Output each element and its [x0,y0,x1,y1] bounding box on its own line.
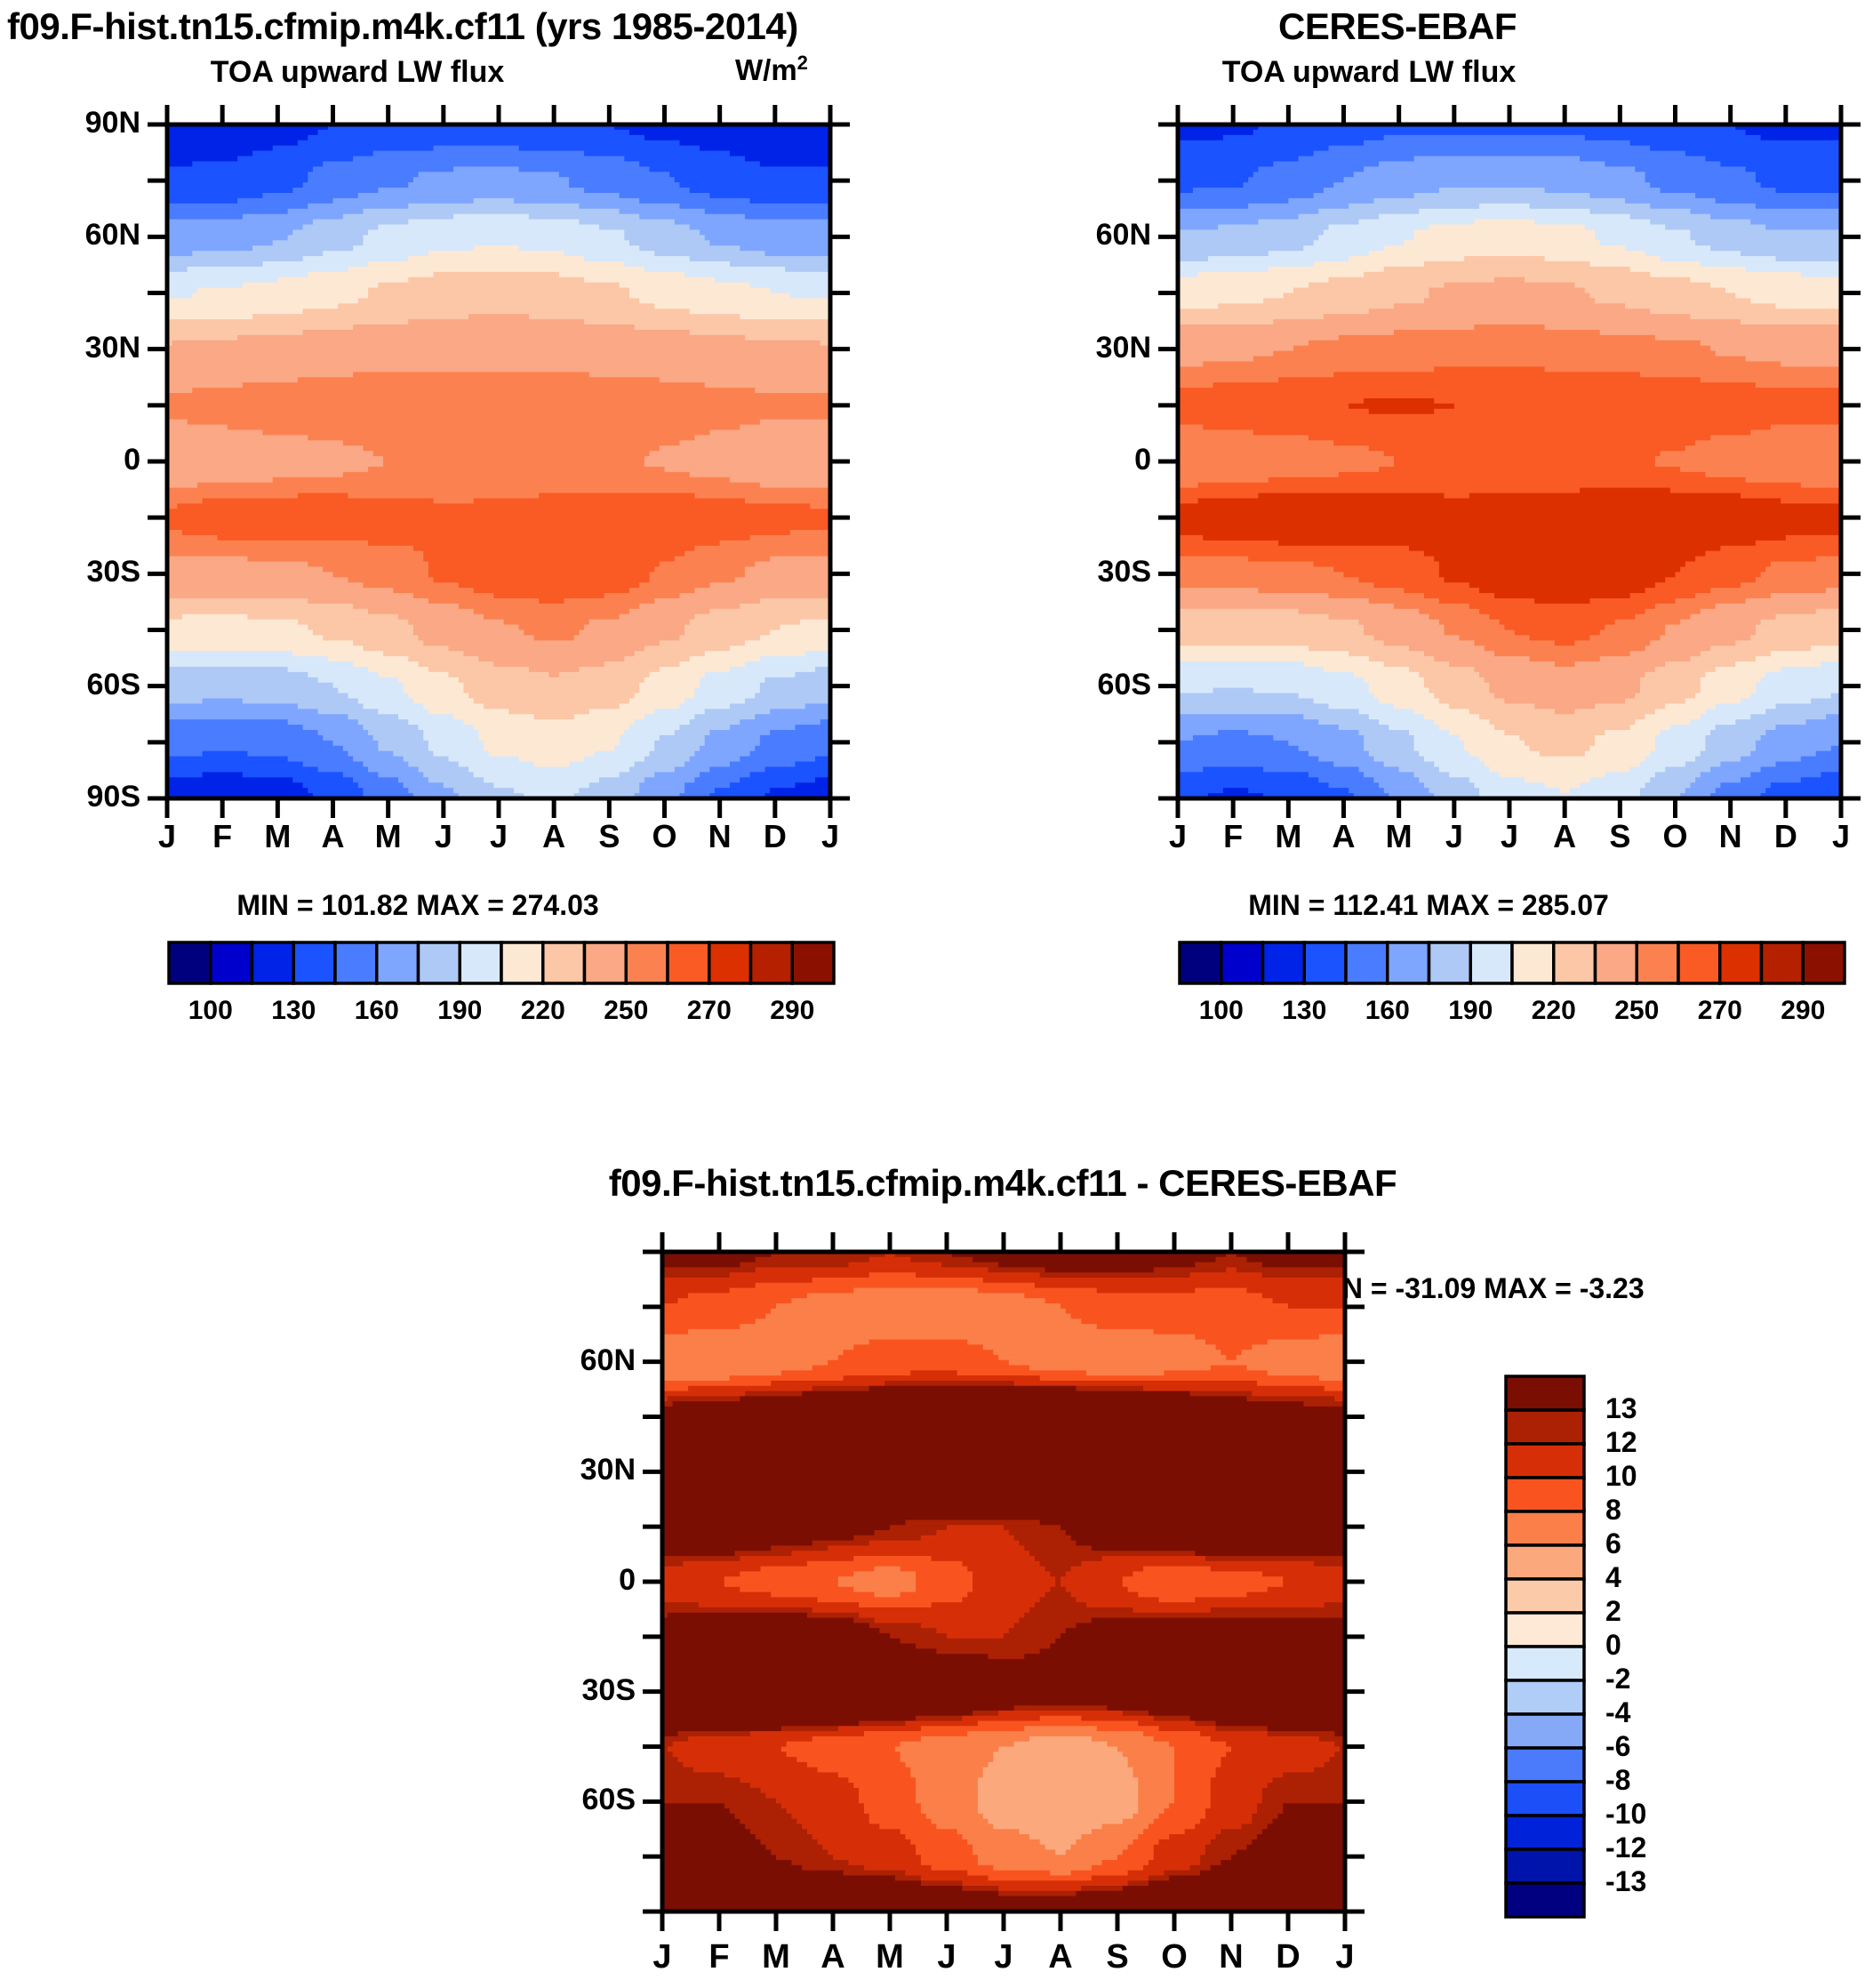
colorbar-tick-label: 190 [1448,996,1493,1026]
month-tick-label: M [1386,818,1413,855]
y-axis-tick-label: 0 [124,443,140,477]
colorbar-tick-label: -12 [1605,1832,1646,1864]
month-tick-label: M [1275,818,1301,855]
month-tick-label: F [708,1938,729,1976]
month-tick-label: J [937,1938,956,1976]
colorbar-tick-label: 13 [1605,1392,1637,1425]
month-tick-label: J [1832,818,1850,855]
month-tick-label: D [764,818,787,855]
month-tick-label: A [1333,818,1356,855]
diff-panel-title: f09.F-hist.tn15.cfmip.m4k.cf11 - CERES-E… [609,1162,1397,1205]
model-colorbar [169,941,834,985]
y-axis-tick-label: 60S [582,1783,636,1817]
y-axis-tick-label: 60N [1096,218,1151,253]
month-tick-label: O [652,818,676,855]
colorbar-tick-label: 4 [1605,1561,1621,1594]
month-tick-label: S [1609,818,1630,855]
month-tick-label: J [158,818,176,855]
month-tick-label: A [1048,1938,1072,1976]
month-tick-label: M [876,1938,904,1976]
month-tick-label: A [1553,818,1576,855]
y-axis-tick-label: 30S [1098,555,1152,589]
y-axis-tick-label: 90S [87,780,141,814]
y-axis-tick-label: 90N [85,106,140,140]
colorbar-tick-label: 220 [521,996,565,1026]
month-tick-label: J [1169,818,1187,855]
units-label: W/m2 [735,52,808,87]
obs-colorbar [1180,941,1845,985]
diff-contour-panel [662,1252,1345,1912]
colorbar-tick-label: 100 [188,996,233,1026]
colorbar-tick-label: 6 [1605,1527,1621,1560]
y-axis-tick-label: 30S [582,1673,636,1708]
y-axis-tick-label: 60S [87,668,141,702]
month-tick-label: M [375,818,402,855]
colorbar-tick-label: 130 [271,996,316,1026]
colorbar-tick-label: 130 [1282,996,1326,1026]
month-tick-label: N [1219,1938,1243,1976]
month-tick-label: J [821,818,839,855]
month-tick-label: A [820,1938,844,1976]
obs-panel-title: CERES-EBAF [1278,5,1517,48]
colorbar-tick-label: -13 [1605,1865,1646,1898]
colorbar-tick-label: 160 [1365,996,1410,1026]
colorbar-tick-label: -8 [1605,1764,1630,1797]
month-tick-label: S [1106,1938,1128,1976]
colorbar-tick-label: 160 [355,996,399,1026]
month-tick-label: O [1662,818,1687,855]
colorbar-tick-label: -2 [1605,1663,1630,1695]
month-tick-label: N [708,818,732,855]
month-tick-label: J [1335,1938,1354,1976]
month-tick-label: O [1161,1938,1188,1976]
month-tick-label: M [264,818,291,855]
month-tick-label: J [1445,818,1463,855]
month-tick-label: M [762,1938,790,1976]
colorbar-tick-label: 100 [1199,996,1244,1026]
model-contour-panel [167,124,830,798]
colorbar-tick-label: 290 [1781,996,1825,1026]
colorbar-tick-label: 250 [1614,996,1659,1026]
month-tick-label: F [1223,818,1243,855]
colorbar-tick-label: -10 [1605,1798,1646,1831]
y-axis-tick-label: 30N [580,1453,636,1487]
colorbar-tick-label: 0 [1605,1629,1621,1662]
model-minmax-text: MIN = 101.82 MAX = 274.03 [236,889,598,922]
y-axis-tick-label: 30N [85,331,140,365]
month-tick-label: J [1501,818,1518,855]
colorbar-tick-label: 250 [604,996,648,1026]
diff-colorbar [1504,1376,1586,1917]
month-tick-label: S [598,818,620,855]
colorbar-tick-label: 12 [1605,1426,1637,1459]
y-axis-tick-label: 0 [619,1563,636,1598]
colorbar-tick-label: -4 [1605,1696,1630,1729]
colorbar-tick-label: 190 [437,996,482,1026]
obs-contour-plot [1178,124,1841,798]
model-contour-plot [167,124,830,798]
obs-minmax-text: MIN = 112.41 MAX = 285.07 [1248,889,1609,922]
colorbar-tick-label: 220 [1532,996,1576,1026]
month-tick-label: J [652,1938,671,1976]
month-tick-label: D [1276,1938,1300,1976]
model-panel-subtitle: TOA upward LW flux [211,55,505,90]
month-tick-label: A [542,818,565,855]
colorbar-tick-label: 290 [770,996,814,1026]
diff-minmax-text: MIN = -31.09 MAX = -3.23 [1310,1272,1644,1305]
colorbar-tick-label: 10 [1605,1460,1637,1493]
month-tick-label: A [322,818,345,855]
y-axis-tick-label: 60N [85,218,140,253]
month-tick-label: J [490,818,508,855]
y-axis-tick-label: 60N [580,1343,636,1378]
y-axis-tick-label: 0 [1134,443,1151,477]
y-axis-tick-label: 60S [1098,668,1152,702]
colorbar-tick-label: 2 [1605,1595,1621,1628]
obs-contour-panel [1178,124,1841,798]
colorbar-tick-label: -6 [1605,1730,1630,1763]
model-panel-title: f09.F-hist.tn15.cfmip.m4k.cf11 (yrs 1985… [7,5,798,48]
month-tick-label: F [212,818,232,855]
month-tick-label: J [994,1938,1013,1976]
colorbar-tick-label: 8 [1605,1494,1621,1527]
month-tick-label: N [1719,818,1742,855]
month-tick-label: D [1774,818,1797,855]
colorbar-tick-label: 270 [687,996,732,1026]
y-axis-tick-label: 30S [87,555,141,589]
diff-contour-plot [662,1252,1345,1912]
month-tick-label: J [435,818,452,855]
figure-root: f09.F-hist.tn15.cfmip.m4k.cf11 (yrs 1985… [0,0,1865,1988]
colorbar-tick-label: 270 [1698,996,1742,1026]
obs-panel-subtitle: TOA upward LW flux [1222,55,1517,90]
y-axis-tick-label: 30N [1096,331,1151,365]
